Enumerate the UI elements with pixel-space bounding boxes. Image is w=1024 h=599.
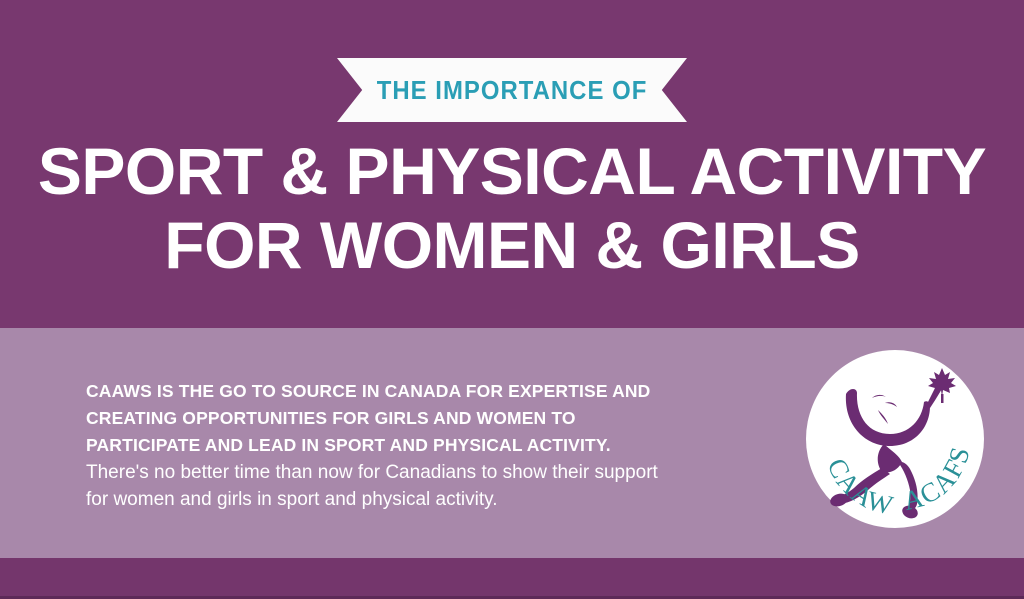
footer-background-band [0, 558, 1024, 596]
intro-body-text: There's no better time than now for Cana… [86, 462, 658, 510]
caaws-logo: CAAWS ACAFS [806, 350, 984, 528]
intro-lead-text: CAAWS IS THE GO TO SOURCE IN CANADA FOR … [86, 381, 650, 455]
page-title: SPORT & PHYSICAL ACTIVITY FOR WOMEN & GI… [0, 134, 1024, 282]
ribbon-banner: THE IMPORTANCE OF [337, 58, 687, 122]
infographic-header: THE IMPORTANCE OF SPORT & PHYSICAL ACTIV… [0, 0, 1024, 599]
title-line-1: SPORT & PHYSICAL ACTIVITY [0, 134, 1024, 208]
title-line-2: FOR WOMEN & GIRLS [0, 208, 1024, 282]
intro-text-block: CAAWS IS THE GO TO SOURCE IN CANADA FOR … [86, 378, 678, 513]
caaws-logo-graphic: CAAWS ACAFS [806, 350, 984, 528]
intro-paragraph: CAAWS IS THE GO TO SOURCE IN CANADA FOR … [86, 378, 678, 513]
ribbon-label: THE IMPORTANCE OF [377, 75, 648, 106]
